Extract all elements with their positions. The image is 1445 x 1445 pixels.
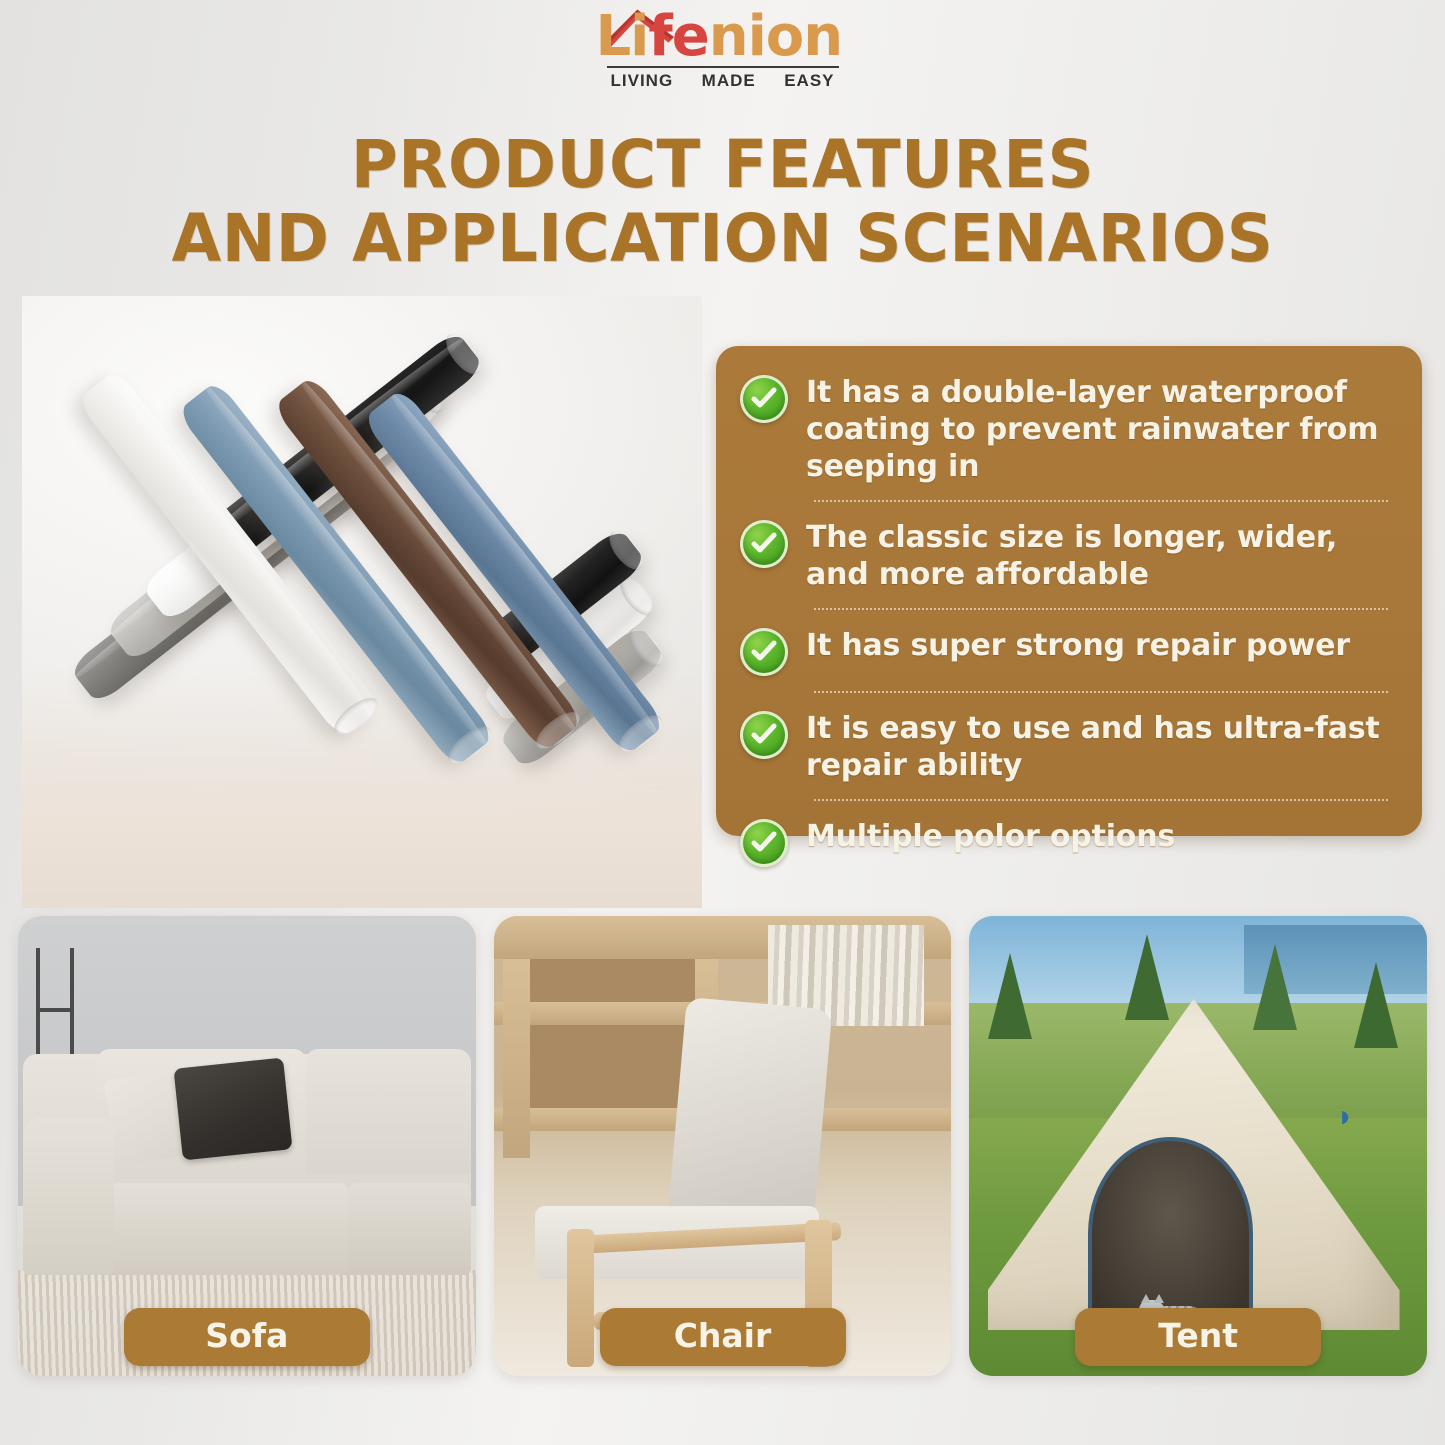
- logo-mark: Lifenion: [592, 6, 854, 68]
- card-label-sofa: Sofa: [124, 1308, 370, 1366]
- tree: [1253, 944, 1297, 1030]
- feature-text: Multiple polor options: [806, 816, 1175, 855]
- scenario-card-chair: Chair: [494, 916, 952, 1376]
- logo-wordmark: Lifenion: [596, 6, 858, 68]
- product-photo-rolls: [22, 296, 702, 908]
- card-label-chair: Chair: [600, 1308, 846, 1366]
- scenario-card-sofa: Sofa: [18, 916, 476, 1376]
- check-circle-icon: [740, 711, 788, 759]
- chair-front-leg-left: [567, 1229, 594, 1367]
- tagline-made: MADE: [702, 71, 756, 91]
- feature-item: It is easy to use and has ultra-fast rep…: [740, 704, 1396, 788]
- sofa-seat-left: [110, 1183, 348, 1275]
- scenario-card-tent: ◗ Tent: [969, 916, 1427, 1376]
- chair-backrest: [667, 997, 832, 1230]
- feature-separator: [814, 608, 1388, 610]
- scenario-cards: Sofa Chair: [18, 916, 1427, 1376]
- sofa-dark-pillow: [174, 1058, 293, 1161]
- feature-text: It has a double-layer waterproof coating…: [806, 372, 1396, 485]
- card-label-tent: Tent: [1075, 1308, 1321, 1366]
- sofa-armrest: [23, 1118, 115, 1274]
- cat-ear: [1154, 1294, 1164, 1303]
- tree: [1354, 962, 1398, 1048]
- tagline-easy: EASY: [784, 71, 834, 91]
- page-title: PRODUCT FEATURES AND APPLICATION SCENARI…: [22, 128, 1424, 276]
- check-circle-icon: [740, 520, 788, 568]
- tent-brand-logo-icon: ◗: [1336, 1100, 1372, 1138]
- feature-separator: [814, 500, 1388, 502]
- feature-item: It has a double-layer waterproof coating…: [740, 368, 1396, 489]
- tree: [1125, 934, 1169, 1020]
- check-circle-icon: [740, 819, 788, 867]
- title-line-1: PRODUCT FEATURES: [22, 128, 1424, 202]
- feature-separator: [814, 799, 1388, 801]
- feature-separator: [814, 691, 1388, 693]
- sofa-back-right-cushion: [306, 1049, 471, 1173]
- check-circle-icon: [740, 375, 788, 423]
- features-panel: It has a double-layer waterproof coating…: [716, 346, 1422, 836]
- title-line-2: AND APPLICATION SCENARIOS: [22, 202, 1424, 276]
- sofa-seat-right: [348, 1183, 472, 1275]
- infographic-page: Lifenion LIVING MADE EASY PRODUCT FEATUR…: [0, 0, 1445, 1445]
- tagline-living: LIVING: [611, 71, 674, 91]
- logo-word-nion: nion: [709, 4, 842, 69]
- check-circle-icon: [740, 628, 788, 676]
- cat-ear: [1141, 1294, 1151, 1303]
- tree: [988, 953, 1032, 1039]
- feature-item: The classic size is longer, wider, and m…: [740, 513, 1396, 597]
- feature-text: The classic size is longer, wider, and m…: [806, 517, 1396, 593]
- feature-item: Multiple polor options: [740, 812, 1396, 871]
- feature-text: It has super strong repair power: [806, 625, 1350, 664]
- brand-logo: Lifenion LIVING MADE EASY: [0, 6, 1445, 106]
- feature-item: It has super strong repair power: [740, 621, 1396, 680]
- logo-word-fe: fe: [648, 4, 708, 69]
- logo-tagline: LIVING MADE EASY: [607, 68, 839, 91]
- logo-word-li: Li: [596, 4, 649, 69]
- feature-text: It is easy to use and has ultra-fast rep…: [806, 708, 1396, 784]
